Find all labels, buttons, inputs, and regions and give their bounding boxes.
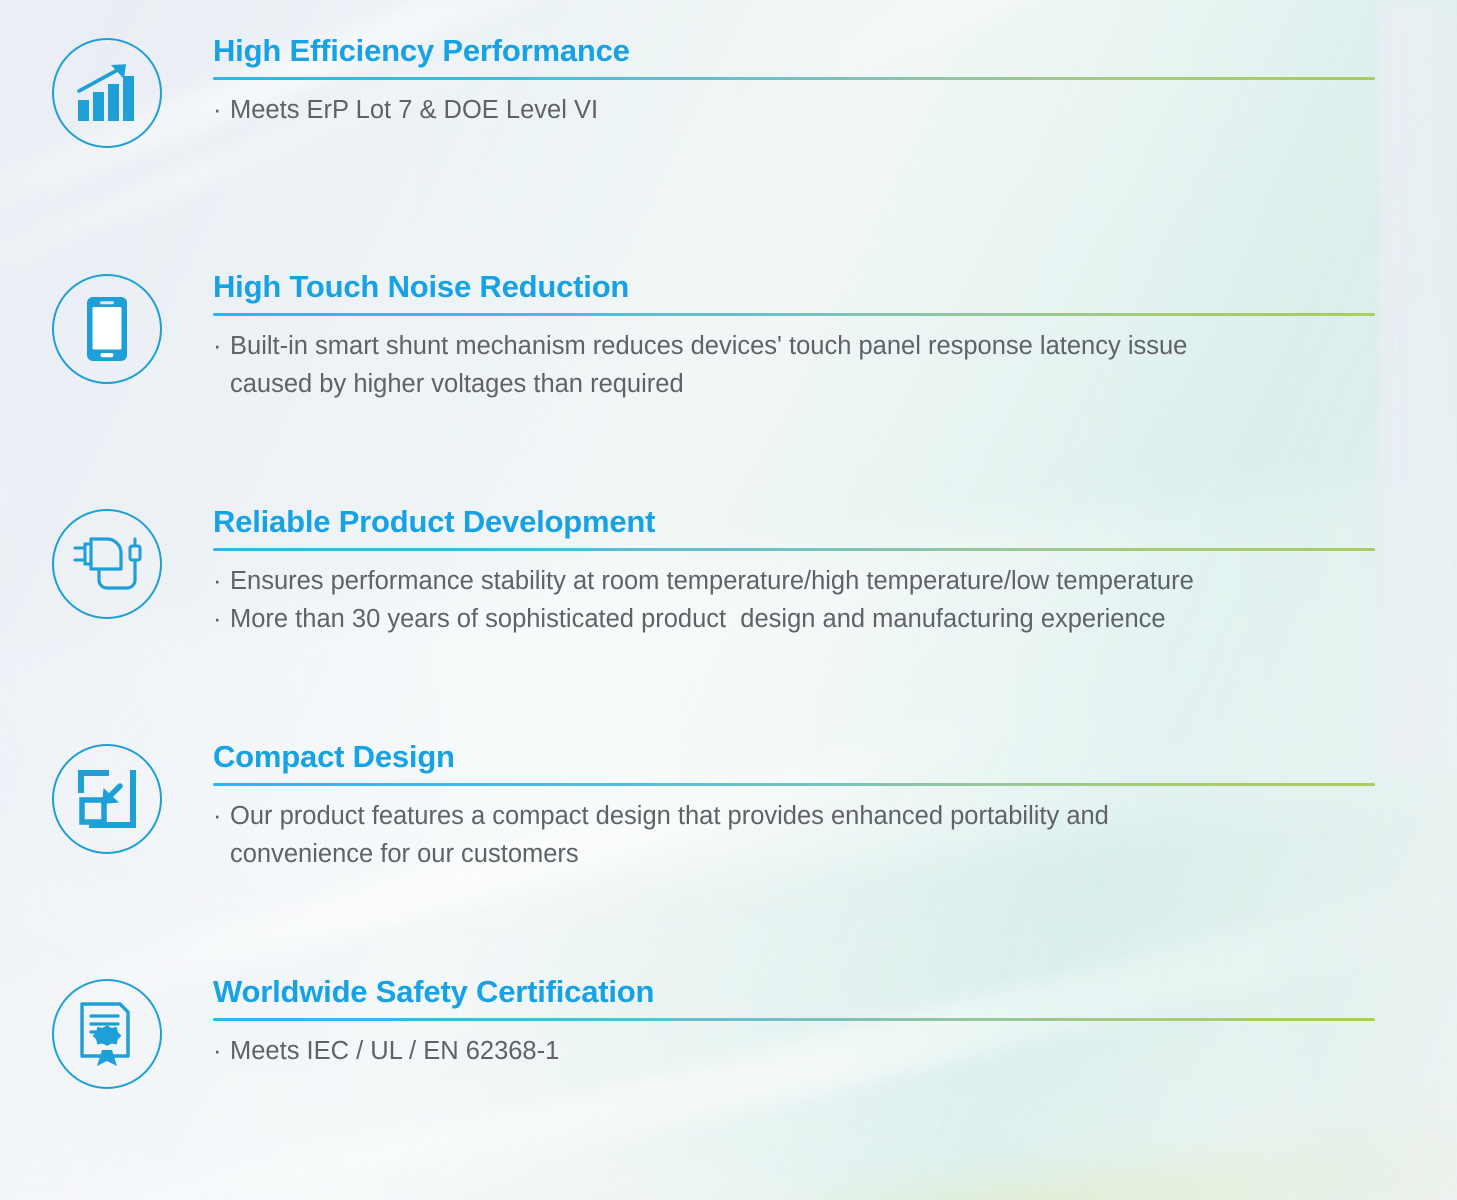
icon-circle — [52, 979, 162, 1089]
feature-icon-cell — [0, 34, 213, 148]
growth-chart-icon — [74, 61, 140, 125]
feature-bullets: · Meets IEC / UL / EN 62368-1 — [213, 1030, 1375, 1070]
bullet-text: Meets IEC / UL / EN 62368-1 — [230, 1032, 1375, 1070]
bullet-line: caused by higher voltages than required — [213, 365, 1375, 403]
feature-title: Compact Design — [213, 740, 1375, 775]
feature-text-cell: Worldwide Safety Certification · Meets I… — [213, 975, 1457, 1070]
feature-bullets: · Ensures performance stability at room … — [213, 560, 1375, 639]
feature-bullets: · Our product features a compact design … — [213, 795, 1375, 874]
bullet-marker: · — [213, 600, 230, 638]
feature-title: High Efficiency Performance — [213, 34, 1375, 69]
feature-text-cell: Reliable Product Development · Ensures p… — [213, 505, 1457, 638]
feature-divider — [213, 548, 1375, 551]
smartphone-icon — [85, 295, 129, 363]
feature-title: High Touch Noise Reduction — [213, 270, 1375, 305]
feature-divider — [213, 77, 1375, 80]
bullet-marker: · — [213, 797, 230, 835]
feature-icon-cell — [0, 975, 213, 1089]
bullet-line: · Meets ErP Lot 7 & DOE Level VI — [213, 91, 1375, 129]
feature-icon-cell — [0, 505, 213, 619]
feature-title: Reliable Product Development — [213, 505, 1375, 540]
power-adapter-icon — [71, 533, 143, 595]
bullet-text: More than 30 years of sophisticated prod… — [230, 600, 1375, 638]
bullet-text: caused by higher voltages than required — [230, 365, 1375, 403]
feature-item-reliable-product-development: Reliable Product Development · Ensures p… — [0, 505, 1457, 638]
bullet-text: Meets ErP Lot 7 & DOE Level VI — [230, 91, 1375, 129]
bullet-text: convenience for our customers — [230, 835, 1375, 873]
feature-icon-cell — [0, 270, 213, 384]
feature-item-high-efficiency-performance: High Efficiency Performance · Meets ErP … — [0, 34, 1457, 148]
feature-bullets: · Meets ErP Lot 7 & DOE Level VI — [213, 89, 1375, 129]
bullet-text: Our product features a compact design th… — [230, 797, 1375, 835]
bullet-marker: · — [213, 562, 230, 600]
feature-text-cell: Compact Design · Our product features a … — [213, 740, 1457, 873]
feature-text-cell: High Efficiency Performance · Meets ErP … — [213, 34, 1457, 129]
feature-divider — [213, 313, 1375, 316]
icon-circle — [52, 744, 162, 854]
feature-item-high-touch-noise-reduction: High Touch Noise Reduction · Built-in sm… — [0, 270, 1457, 403]
bullet-line: · Meets IEC / UL / EN 62368-1 — [213, 1032, 1375, 1070]
bullet-line: · More than 30 years of sophisticated pr… — [213, 600, 1375, 638]
feature-divider — [213, 1018, 1375, 1021]
bullet-marker: · — [213, 327, 230, 365]
compact-resize-icon — [76, 768, 138, 830]
feature-item-worldwide-safety-certification: Worldwide Safety Certification · Meets I… — [0, 975, 1457, 1089]
bullet-text: Built-in smart shunt mechanism reduces d… — [230, 327, 1375, 365]
feature-bullets: · Built-in smart shunt mechanism reduces… — [213, 325, 1375, 404]
bullet-text: Ensures performance stability at room te… — [230, 562, 1375, 600]
bullet-marker: · — [213, 1032, 230, 1070]
feature-text-cell: High Touch Noise Reduction · Built-in sm… — [213, 270, 1457, 403]
bullet-marker: · — [213, 91, 230, 129]
icon-circle — [52, 274, 162, 384]
icon-circle — [52, 509, 162, 619]
bullet-line: · Built-in smart shunt mechanism reduces… — [213, 327, 1375, 365]
feature-item-compact-design: Compact Design · Our product features a … — [0, 740, 1457, 873]
bullet-line: convenience for our customers — [213, 835, 1375, 873]
certificate-icon — [76, 1000, 138, 1068]
feature-divider — [213, 783, 1375, 786]
bullet-line: · Ensures performance stability at room … — [213, 562, 1375, 600]
feature-title: Worldwide Safety Certification — [213, 975, 1375, 1010]
bullet-line: · Our product features a compact design … — [213, 797, 1375, 835]
feature-icon-cell — [0, 740, 213, 854]
feature-list: High Efficiency Performance · Meets ErP … — [0, 0, 1457, 1200]
icon-circle — [52, 38, 162, 148]
